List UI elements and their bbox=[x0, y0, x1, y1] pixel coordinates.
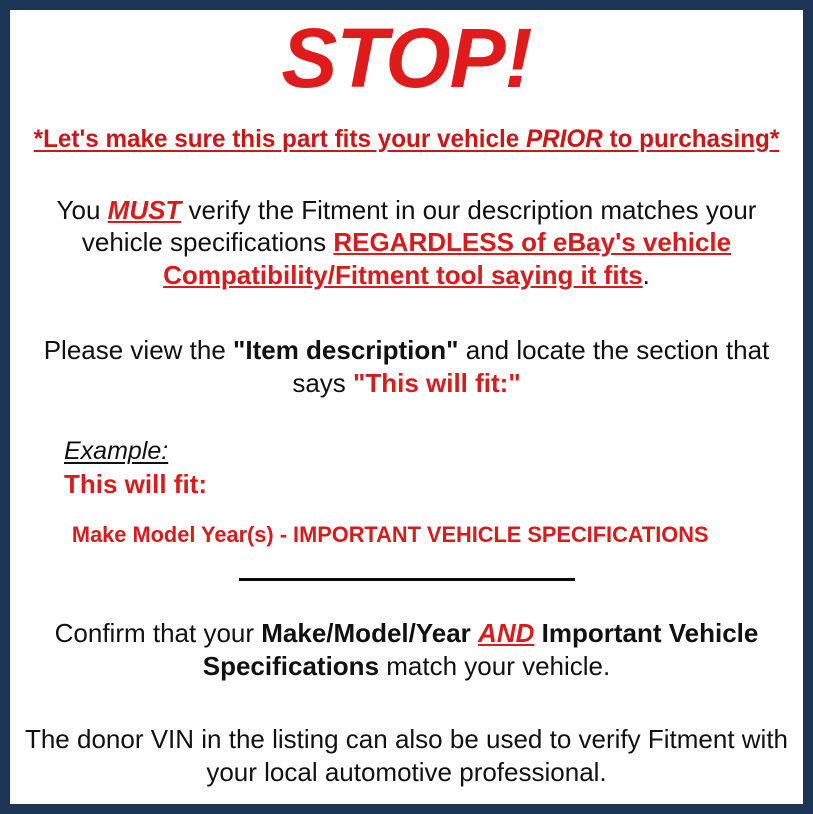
fitment-notice-card: STOP! *Let's make sure this part fits yo… bbox=[0, 0, 813, 814]
tagline: *Let's make sure this part fits your veh… bbox=[34, 124, 780, 154]
confirm-part2 bbox=[471, 618, 478, 648]
item-description-emphasis: "Item description" bbox=[233, 335, 458, 365]
view-part1: Please view the bbox=[44, 335, 233, 365]
section-divider bbox=[22, 578, 791, 581]
tagline-lead: *Let's make sure this part fits your veh… bbox=[34, 125, 526, 153]
this-will-fit-emphasis: "This will fit:" bbox=[353, 368, 521, 398]
confirm-paragraph: Confirm that your Make/Model/Year AND Im… bbox=[22, 617, 791, 683]
stop-heading: STOP! bbox=[22, 10, 791, 102]
view-paragraph: Please view the "Item description" and l… bbox=[22, 334, 791, 400]
divider-rule bbox=[239, 578, 575, 581]
must-part3: . bbox=[643, 260, 650, 290]
example-block: Example: This will fit: Make Model Year(… bbox=[22, 437, 791, 548]
tagline-tail: to purchasing* bbox=[603, 125, 780, 153]
confirm-part1: Confirm that your bbox=[55, 618, 262, 648]
confirm-part3 bbox=[534, 618, 541, 648]
confirm-part4: match your vehicle. bbox=[379, 651, 610, 681]
example-label: Example: bbox=[64, 437, 791, 466]
and-emphasis: AND bbox=[478, 618, 534, 648]
tagline-emphasis-prior: PRIOR bbox=[526, 125, 603, 153]
example-spec-line: Make Model Year(s) - IMPORTANT VEHICLE S… bbox=[64, 522, 784, 548]
example-fit-line: This will fit: bbox=[64, 470, 791, 500]
must-emphasis: MUST bbox=[108, 195, 182, 225]
vin-paragraph: The donor VIN in the listing can also be… bbox=[22, 723, 791, 789]
must-part1: You bbox=[57, 195, 108, 225]
make-model-year-emphasis: Make/Model/Year bbox=[261, 618, 471, 648]
must-paragraph: You MUST verify the Fitment in our descr… bbox=[22, 194, 791, 292]
notice-content: STOP! *Let's make sure this part fits yo… bbox=[10, 10, 803, 804]
